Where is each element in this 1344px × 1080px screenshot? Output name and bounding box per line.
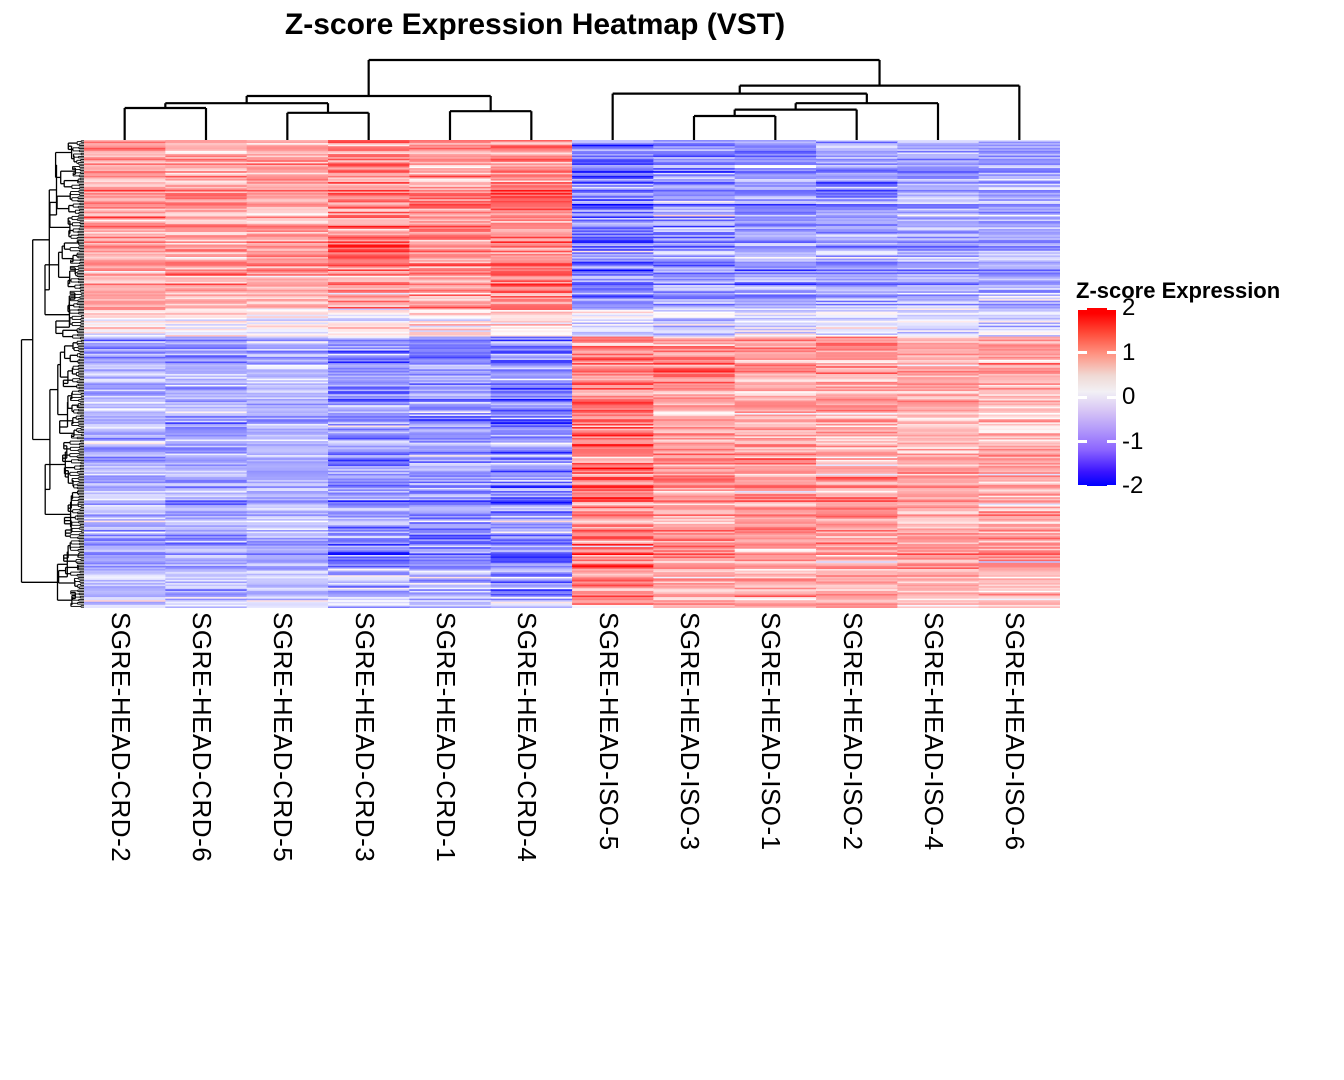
column-label-sgre-head-crd-5: SGRE-HEAD-CRD-5: [270, 612, 296, 1080]
legend-title: Z-score Expression: [1076, 278, 1280, 304]
heatmap-body: [84, 140, 1060, 608]
colorbar-tick-label: 1: [1122, 341, 1135, 365]
colorbar-tick-label: -2: [1122, 474, 1143, 498]
column-label-sgre-head-iso-2: SGRE-HEAD-ISO-2: [840, 612, 866, 1080]
column-label-sgre-head-crd-3: SGRE-HEAD-CRD-3: [352, 612, 378, 1080]
column-label-sgre-head-iso-4: SGRE-HEAD-ISO-4: [921, 612, 947, 1080]
column-label-sgre-head-crd-2: SGRE-HEAD-CRD-2: [108, 612, 134, 1080]
colorbar-tick-mark: [1078, 440, 1087, 443]
column-label-sgre-head-crd-6: SGRE-HEAD-CRD-6: [189, 612, 215, 1080]
colorbar-tick-mark: [1078, 307, 1087, 310]
heatmap-figure: Z-score Expression Heatmap (VST) SGRE-HE…: [0, 0, 1344, 960]
heatmap-cells: [84, 140, 1060, 608]
row-dendrogram: [10, 140, 84, 608]
colorbar-tick-mark: [1107, 485, 1116, 488]
column-label-sgre-head-iso-6: SGRE-HEAD-ISO-6: [1002, 612, 1028, 1080]
colorbar-tick-label: 2: [1122, 296, 1135, 320]
colorbar-tick-label: 0: [1122, 385, 1135, 409]
colorbar-tick-mark: [1107, 440, 1116, 443]
colorbar-tick-mark: [1107, 351, 1116, 354]
colorbar-tick-mark: [1078, 351, 1087, 354]
column-label-sgre-head-crd-4: SGRE-HEAD-CRD-4: [514, 612, 540, 1080]
column-label-sgre-head-iso-1: SGRE-HEAD-ISO-1: [758, 612, 784, 1080]
column-dendrogram: [84, 58, 1060, 140]
page-title: Z-score Expression Heatmap (VST): [0, 8, 1070, 42]
colorbar-tick-mark: [1078, 396, 1087, 399]
colorbar-legend: Z-score Expression 210-1-2: [1072, 278, 1338, 493]
colorbar-tick-mark: [1107, 396, 1116, 399]
colorbar-tick-label: -1: [1122, 430, 1143, 454]
colorbar-tick-mark: [1078, 485, 1087, 488]
column-label-sgre-head-iso-5: SGRE-HEAD-ISO-5: [596, 612, 622, 1080]
colorbar-tick-mark: [1107, 307, 1116, 310]
column-labels: SGRE-HEAD-CRD-2SGRE-HEAD-CRD-6SGRE-HEAD-…: [84, 608, 1060, 948]
column-label-sgre-head-iso-3: SGRE-HEAD-ISO-3: [677, 612, 703, 1080]
column-label-sgre-head-crd-1: SGRE-HEAD-CRD-1: [433, 612, 459, 1080]
